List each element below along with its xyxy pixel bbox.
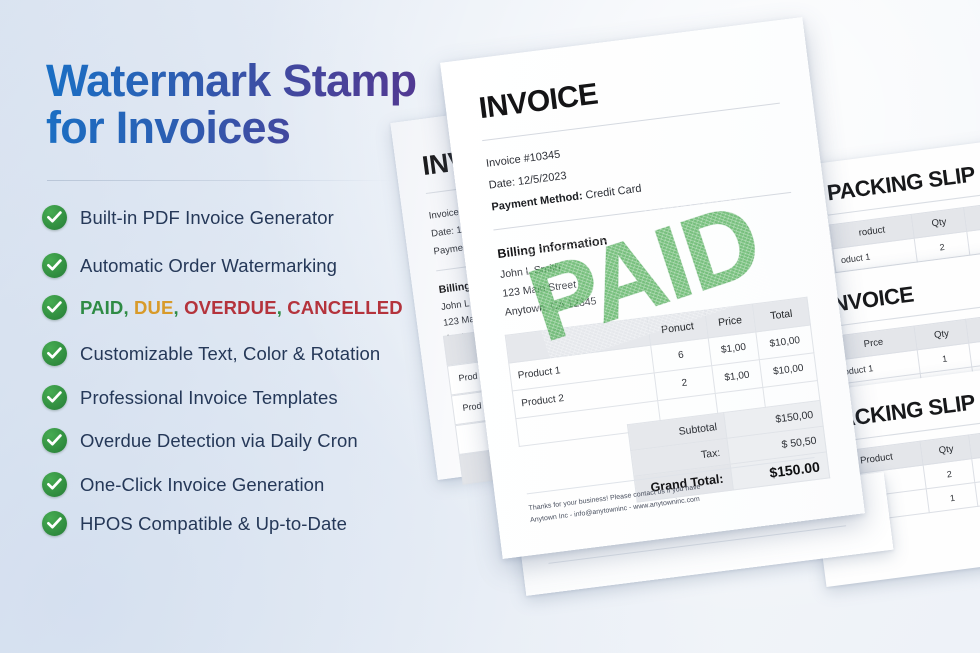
page-title-line-2: for Invoices [46, 105, 446, 152]
page-title-line-1: Watermark Stamp [46, 55, 416, 106]
feature-item: Customizable Text, Color & Rotation [42, 341, 434, 366]
check-circle-icon [42, 295, 67, 320]
check-circle-icon [42, 205, 67, 230]
status-separator: , [123, 297, 134, 318]
main-invoice-number: Invoice #10345 [485, 149, 561, 170]
feature-item: Overdue Detection via Daily Cron [42, 428, 434, 453]
main-invoice-title: INVOICE [477, 78, 599, 127]
check-circle-icon [42, 385, 67, 410]
side-document-title: PACKING SLIP [826, 161, 977, 206]
feature-item: Automatic Order Watermarking [42, 253, 434, 278]
feature-label: Customizable Text, Color & Rotation [80, 343, 380, 365]
cell-qty: 1 [926, 482, 978, 512]
feature-item: Built-in PDF Invoice Generator [42, 205, 434, 230]
status-paid: PAID [80, 297, 123, 318]
left-content-panel: Watermark Stamp for Invoices Built-in PD… [0, 0, 440, 653]
cell-product: Prod [462, 401, 482, 413]
check-circle-icon [42, 511, 67, 536]
cell-product: Prod [458, 371, 478, 383]
column-header: Total [966, 311, 980, 343]
main-invoice-document: INVOICE Invoice #10345 Date: 12/5/2023 P… [440, 17, 865, 559]
column-header: Total [969, 427, 980, 458]
feature-label: Built-in PDF Invoice Generator [80, 207, 334, 229]
feature-item: One-Click Invoice Generation [42, 472, 434, 497]
status-cancelled: CANCELLED [287, 297, 402, 318]
check-circle-icon [42, 253, 67, 278]
check-circle-icon [42, 428, 67, 453]
payment-method-value: Credit Card [585, 183, 642, 202]
column-header: Total [964, 199, 980, 231]
feature-item: HPOS Compatible & Up-to-Date [42, 511, 434, 536]
feature-item: Professional Invoice Templates [42, 385, 434, 410]
feature-status-labels: PAID, DUE, OVERDUE, CANCELLED [80, 297, 403, 319]
feature-label: One-Click Invoice Generation [80, 474, 324, 496]
status-due: DUE [134, 297, 174, 318]
title-divider [47, 180, 392, 181]
main-invoice-footer: Thanks for your business! Please contact… [528, 482, 703, 528]
feature-item: PAID, DUE, OVERDUE, CANCELLED [42, 295, 434, 320]
feature-label: Automatic Order Watermarking [80, 255, 337, 277]
feature-label: Overdue Detection via Daily Cron [80, 430, 358, 452]
status-overdue: OVERDUE [184, 297, 277, 318]
feature-label: Professional Invoice Templates [80, 387, 338, 409]
status-separator: , [174, 297, 185, 318]
payment-method-label: Payment Method: [491, 190, 583, 213]
check-circle-icon [42, 341, 67, 366]
page-title: Watermark Stamp for Invoices [46, 58, 446, 152]
feature-label: HPOS Compatible & Up-to-Date [80, 513, 347, 535]
check-circle-icon [42, 472, 67, 497]
status-separator: , [277, 297, 288, 318]
document-stack: INVOICE Invoice #10 Date: 12/1 Payment N… [395, 0, 980, 653]
main-invoice-date: Date: 12/5/2023 [488, 170, 567, 192]
